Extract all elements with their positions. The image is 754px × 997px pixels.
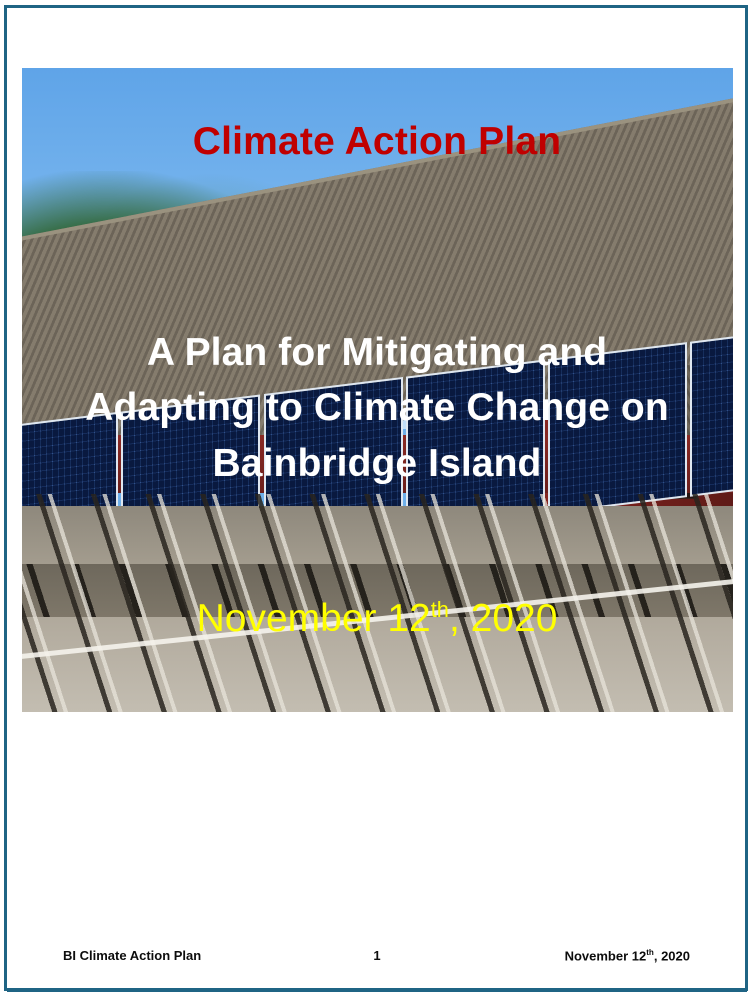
cover-date-monthday: November 12 bbox=[197, 597, 431, 640]
footer-rule bbox=[7, 988, 747, 992]
page-subtitle: A Plan for Mitigating and Adapting to Cl… bbox=[0, 325, 754, 491]
page-title: Climate Action Plan bbox=[0, 121, 754, 164]
cover-date: November 12th, 2020 bbox=[0, 598, 754, 641]
cover-date-ordinal: th bbox=[431, 597, 449, 622]
cover-date-year: , 2020 bbox=[449, 597, 557, 640]
footer-date-monthday: November 12 bbox=[565, 948, 647, 963]
footer-date-ordinal: th bbox=[646, 948, 654, 957]
subtitle-line-3: Bainbridge Island bbox=[0, 436, 754, 491]
subtitle-line-2: Adapting to Climate Change on bbox=[0, 380, 754, 435]
document-page: Climate Action Plan A Plan for Mitigatin… bbox=[0, 0, 754, 997]
footer-date-year: , 2020 bbox=[654, 948, 690, 963]
footer-date: November 12th, 2020 bbox=[565, 948, 690, 963]
page-footer: BI Climate Action Plan 1 November 12th, … bbox=[0, 948, 754, 976]
subtitle-line-1: A Plan for Mitigating and bbox=[0, 325, 754, 380]
